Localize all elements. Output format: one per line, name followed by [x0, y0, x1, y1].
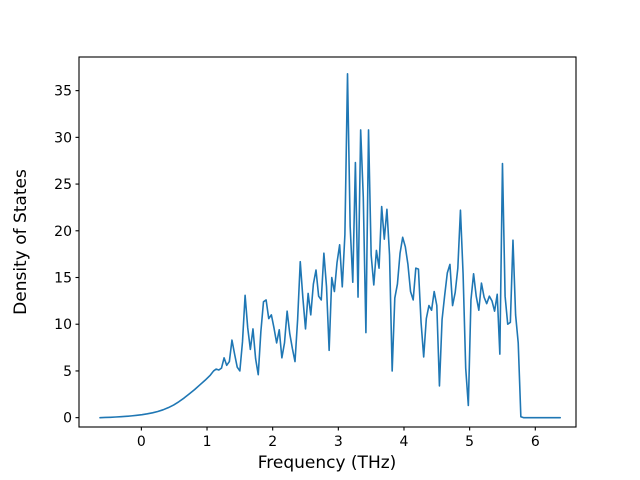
- x-tick-label: 0: [137, 434, 146, 450]
- dos-plot: 0123456 05101520253035 Frequency (THz) D…: [0, 0, 640, 480]
- y-tick-label: 25: [54, 177, 72, 193]
- x-tick-label: 1: [203, 434, 212, 450]
- y-tick-label: 15: [54, 271, 72, 287]
- x-tick-label: 5: [465, 434, 474, 450]
- y-tick-label: 0: [63, 411, 72, 427]
- x-tick-label: 2: [268, 434, 277, 450]
- y-tick-label: 30: [54, 130, 72, 146]
- x-axis-label: Frequency (THz): [258, 453, 397, 473]
- y-tick-label: 35: [54, 84, 72, 100]
- x-tick-label: 4: [400, 434, 409, 450]
- figure-canvas: 0123456 05101520253035 Frequency (THz) D…: [0, 0, 640, 480]
- x-tick-label: 6: [531, 434, 540, 450]
- x-tick-label: 3: [334, 434, 343, 450]
- y-tick-label: 10: [54, 317, 72, 333]
- y-tick-label: 20: [54, 224, 72, 240]
- y-axis-label: Density of States: [11, 169, 31, 315]
- y-tick-label: 5: [63, 364, 72, 380]
